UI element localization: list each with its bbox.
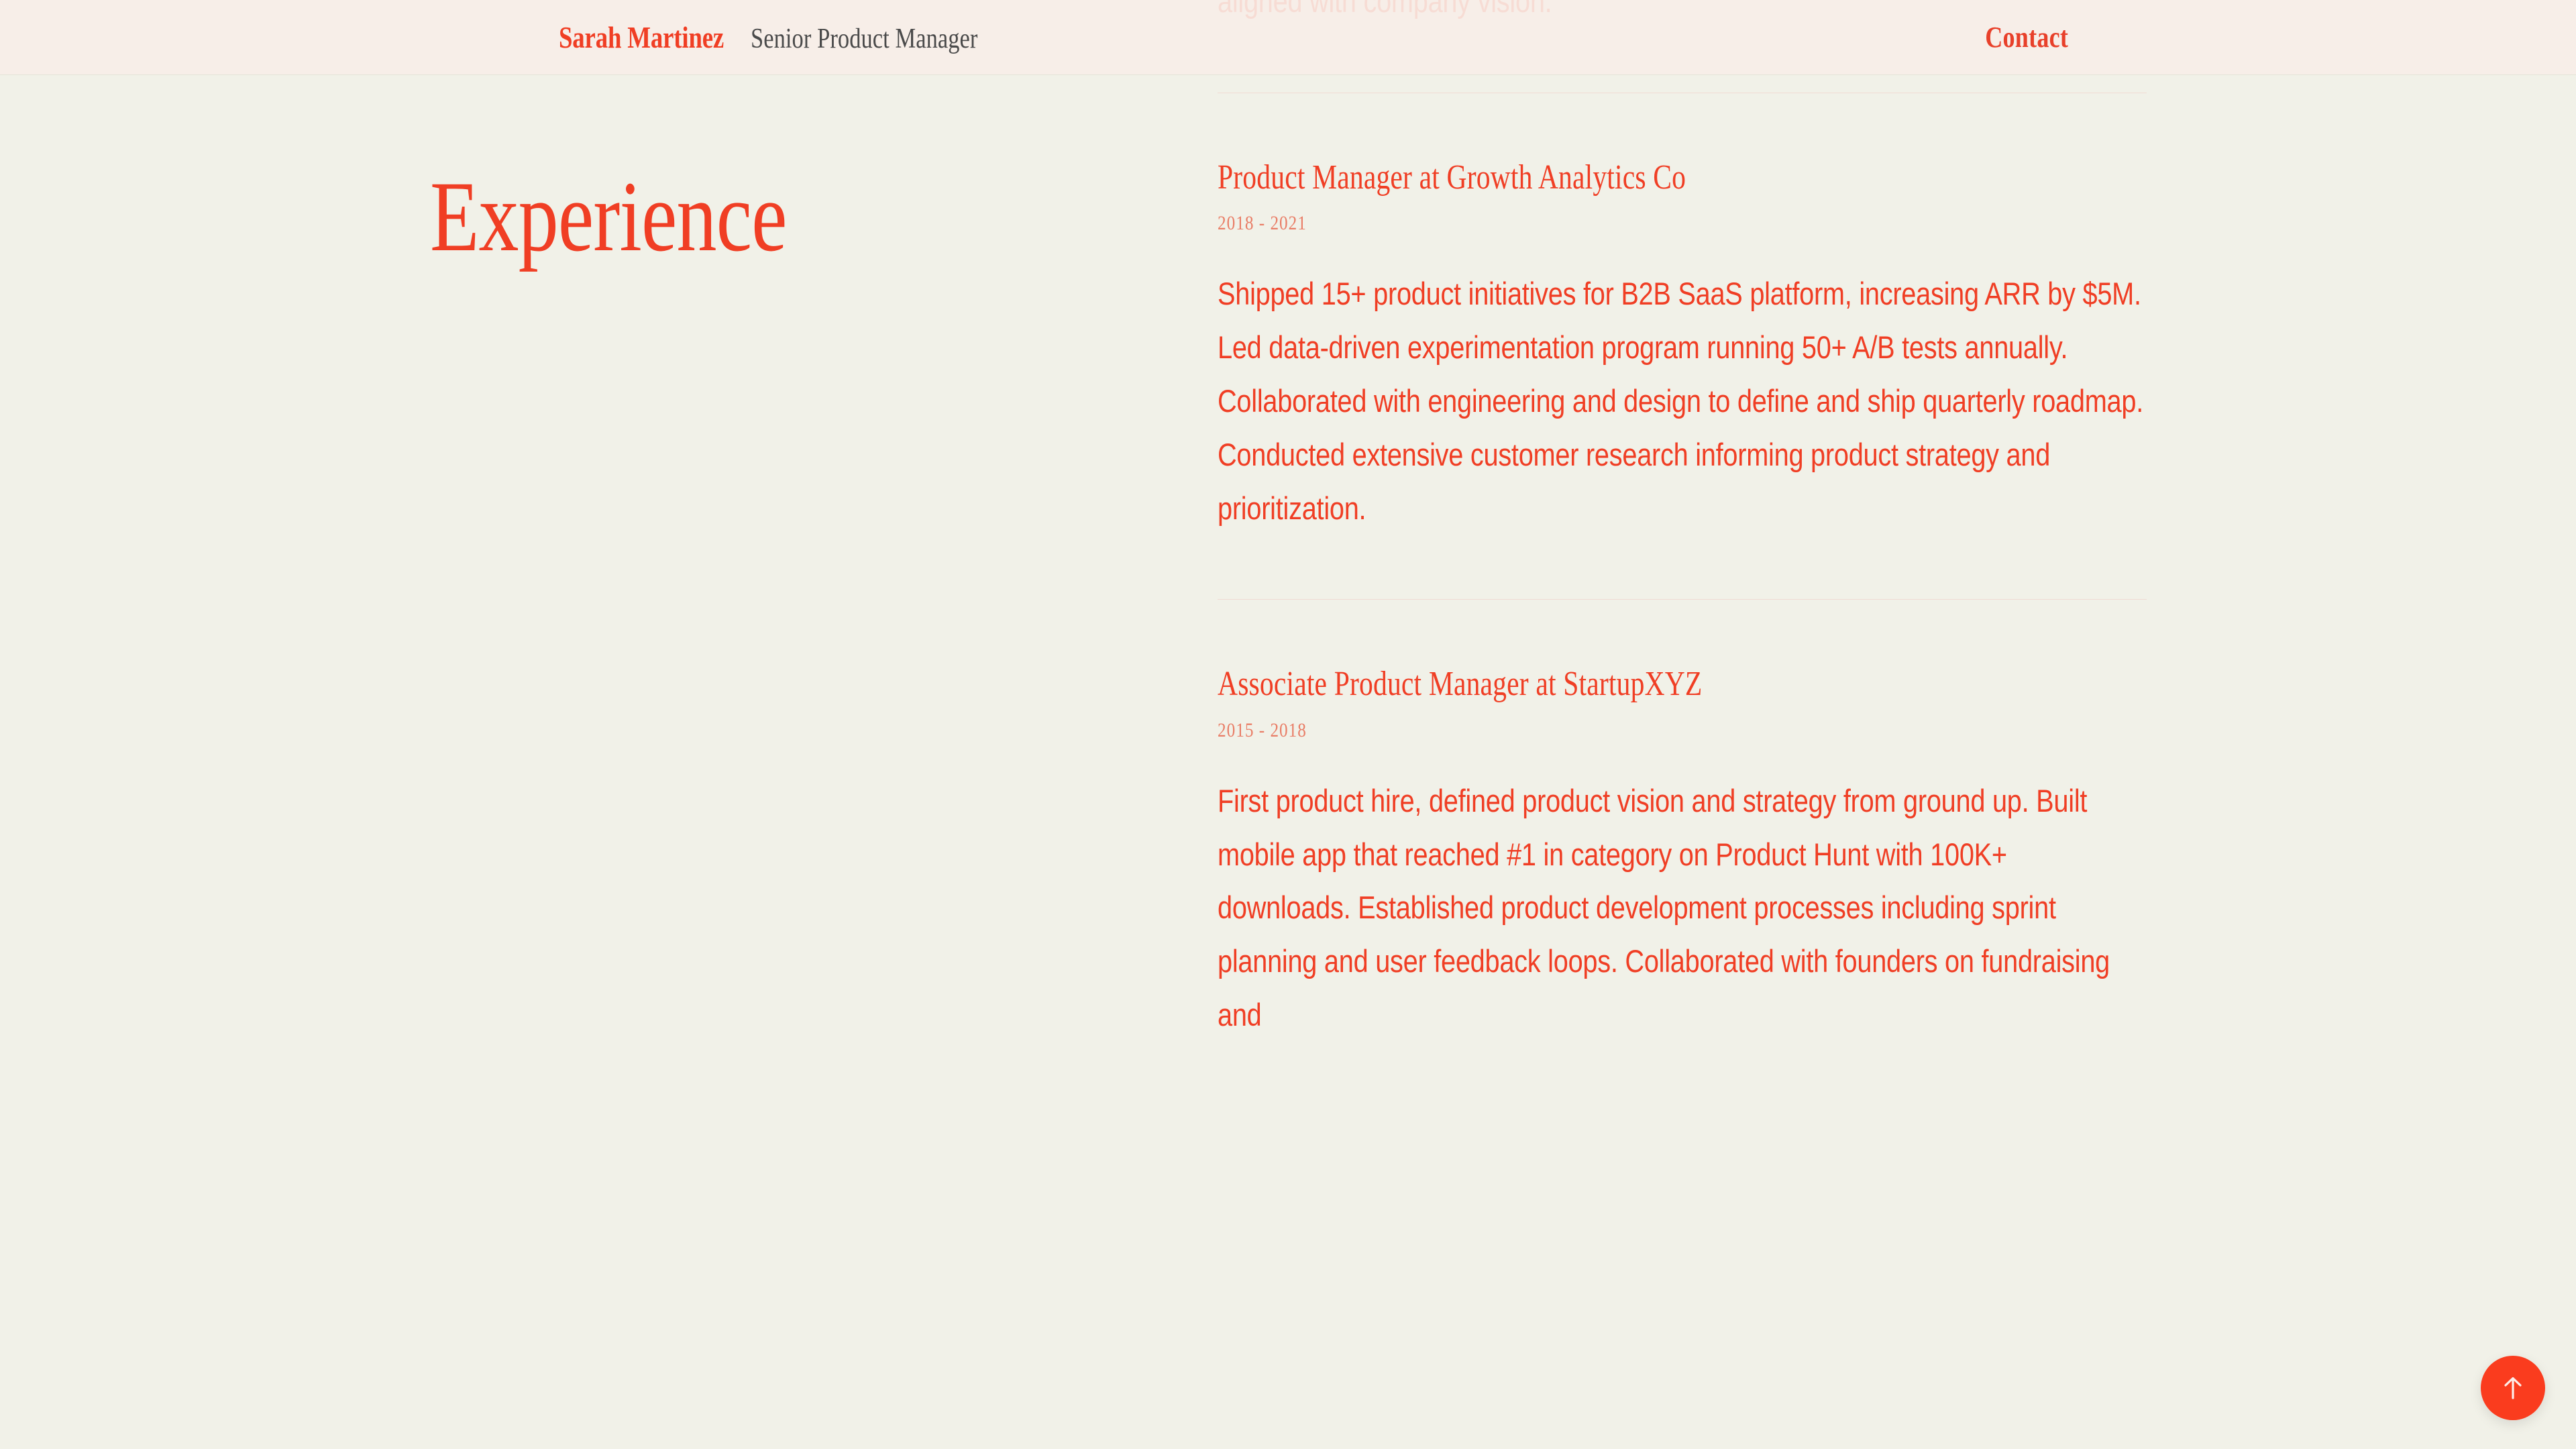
section-heading: Experience — [430, 166, 787, 267]
scroll-to-top-button[interactable] — [2481, 1356, 2545, 1420]
experience-column: engineers, designers, and analysts. Defi… — [1218, 0, 2147, 1042]
page-root: engineers, designers, and analysts. Defi… — [0, 0, 2576, 1449]
experience-job-title: Product Manager at Growth Analytics Co — [1218, 158, 1961, 197]
nav-contact-link[interactable]: Contact — [1985, 20, 2068, 54]
experience-entry: Associate Product Manager at StartupXYZ … — [1218, 665, 2147, 1042]
arrow-up-icon — [2502, 1376, 2524, 1400]
experience-date-range: 2015 - 2018 — [1218, 719, 1998, 742]
brand-group[interactable]: Sarah Martinez Senior Product Manager — [559, 19, 1027, 55]
experience-description: Shipped 15+ product initiatives for B2B … — [1218, 267, 2147, 535]
brand-role: Senior Product Manager — [751, 23, 977, 55]
experience-date-range: 2018 - 2021 — [1218, 212, 1998, 235]
experience-description: First product hire, defined product visi… — [1218, 774, 2147, 1042]
site-header: Sarah Martinez Senior Product Manager Co… — [0, 0, 2576, 75]
entry-divider — [1218, 93, 2147, 93]
experience-job-title: Associate Product Manager at StartupXYZ — [1218, 665, 1961, 704]
experience-entry: Product Manager at Growth Analytics Co 2… — [1218, 158, 2147, 535]
brand-name[interactable]: Sarah Martinez — [559, 19, 724, 55]
entry-divider — [1218, 599, 2147, 600]
